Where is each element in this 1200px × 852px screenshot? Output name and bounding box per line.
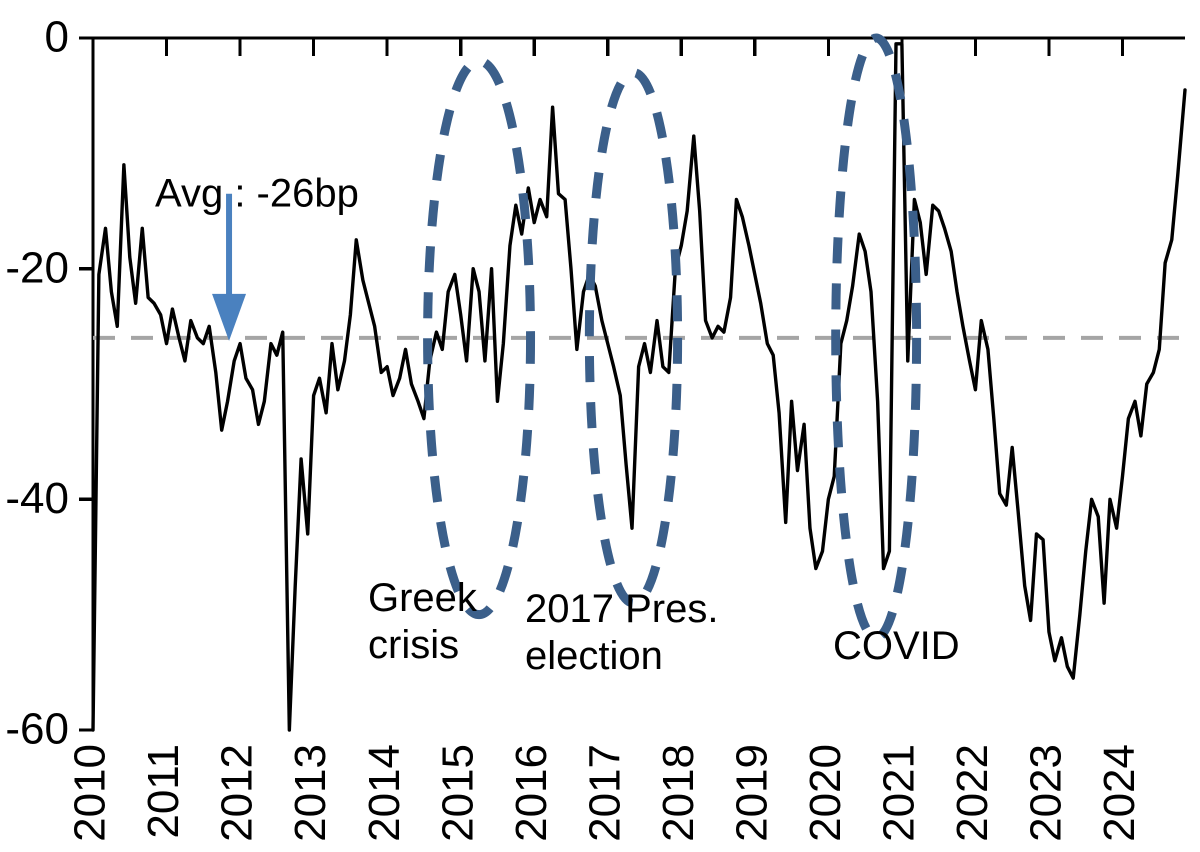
y-tick-label: -40 — [5, 474, 69, 523]
x-tick-label: 2010 — [66, 744, 115, 842]
y-tick-label: -20 — [5, 243, 69, 292]
x-tick-label: 2017 — [580, 744, 629, 842]
x-tick-label: 2015 — [433, 744, 482, 842]
x-tick-label: 2024 — [1095, 744, 1144, 842]
y-tick-label: 0 — [45, 13, 69, 62]
x-tick-label: 2020 — [801, 744, 850, 842]
average-label: Avg.: -26bp — [155, 172, 359, 216]
avg-arrow-head — [212, 294, 246, 341]
x-tick-label: 2014 — [360, 744, 409, 842]
x-tick-label: 2013 — [286, 744, 335, 842]
x-tick-label: 2019 — [727, 744, 776, 842]
x-tick-label: 2011 — [139, 744, 188, 839]
x-tick-label: 2022 — [948, 744, 997, 842]
x-tick-label: 2018 — [654, 744, 703, 842]
annotation-label-greek-crisis: Greekcrisis — [368, 576, 478, 667]
x-tick-label: 2021 — [875, 744, 924, 842]
line-chart: 0-20-40-60201020112012201320142015201620… — [0, 0, 1200, 852]
x-tick-label: 2023 — [1022, 744, 1071, 842]
chart-container: 0-20-40-60201020112012201320142015201620… — [0, 0, 1200, 852]
x-tick-label: 2016 — [507, 744, 556, 842]
x-tick-label: 2012 — [213, 744, 262, 842]
y-tick-label: -60 — [5, 705, 69, 754]
annotation-label-2017-pres-election: 2017 Pres.election — [525, 587, 718, 678]
annotation-label-covid: COVID — [833, 624, 960, 668]
